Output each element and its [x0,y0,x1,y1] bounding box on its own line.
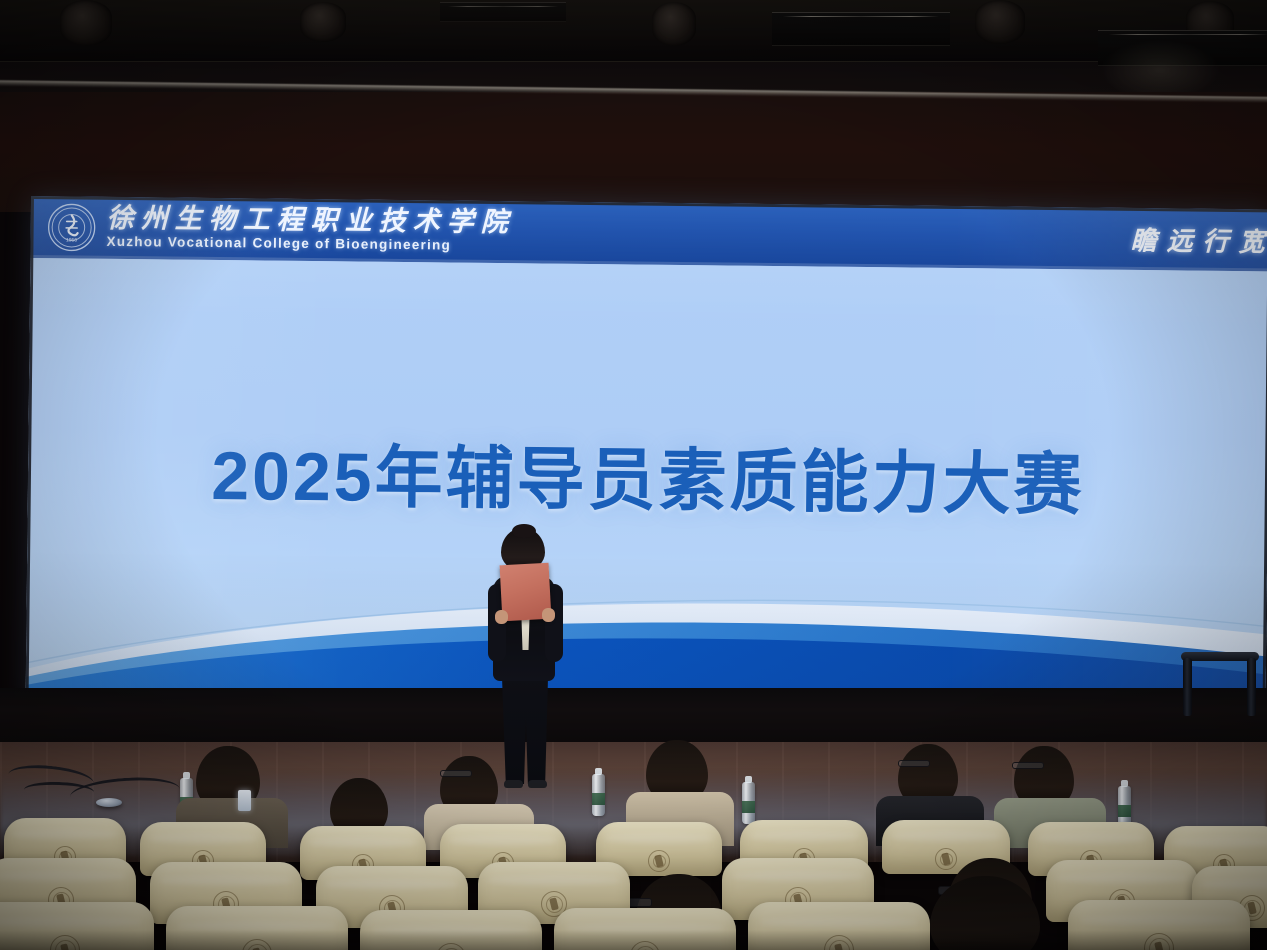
eyeglasses [1012,762,1044,769]
chair-cover-school-emblem [648,850,670,872]
presenter-hand-right [542,608,555,622]
chair-cover [1068,900,1250,950]
presenter-shoe-right [528,780,547,788]
eyeglasses [440,770,472,777]
xuzhou-vocational-college-seal-icon: 1956 [46,202,97,253]
stage-light-fixture [1098,30,1267,66]
eyeglasses [898,760,930,767]
water-bottle [592,774,605,816]
floor-microphone [96,798,122,807]
school-name-cn: 徐州生物工程职业技术学院 [107,204,515,236]
stage-side-rail [1181,652,1259,712]
stage-light-fixture [652,2,696,46]
chair-cover-school-emblem [824,935,854,950]
auditorium-scene: 1956 徐州生物工程职业技术学院 Xuzhou Vocational Coll… [0,0,1267,950]
chair-cover-school-emblem [242,939,272,950]
chair-cover [166,906,348,950]
smartphone-screen [238,790,251,811]
stage-light-fixture [772,12,950,46]
presenter-hand-left [495,610,508,624]
chair-cover-school-emblem [935,848,957,870]
stage-front-face [0,688,1267,750]
chair-cover [748,902,930,950]
school-name-block: 徐州生物工程职业技术学院 Xuzhou Vocational College o… [106,204,514,256]
stage-light-fixture [975,0,1025,44]
presenter-hair-bun [512,524,536,538]
svg-text:1956: 1956 [66,237,77,243]
presenter-shoe-left [504,780,523,788]
presenter-trousers [501,676,549,784]
slide-surface: 1956 徐州生物工程职业技术学院 Xuzhou Vocational Coll… [26,196,1267,714]
school-name-en: Xuzhou Vocational College of Bioengineer… [106,233,514,256]
water-bottle [742,782,755,824]
chair-cover-school-emblem [50,935,80,950]
chair-cover-school-emblem [436,943,466,950]
stage-lighting-truss [0,0,1267,62]
stage-light-fixture [440,2,566,22]
chair-cover-school-emblem [1144,933,1174,950]
chair-cover [0,902,154,950]
led-presentation-screen: 1956 徐州生物工程职业技术学院 Xuzhou Vocational Coll… [26,196,1267,714]
slide-title: 2025年辅导员素质能力大赛 [28,418,1267,530]
chair-cover [554,908,736,950]
back-wall [0,92,1267,212]
chair-cover-school-emblem [630,941,660,950]
school-motto-calligraphy: 瞻远行宽 [1130,220,1267,259]
stage-light-fixture [300,2,346,42]
chair-cover [360,910,542,950]
slide-body: 2025年辅导员素质能力大赛 2025年9月4日 [26,258,1267,714]
stage-light-fixture [60,0,112,46]
host-presenter [468,528,586,790]
